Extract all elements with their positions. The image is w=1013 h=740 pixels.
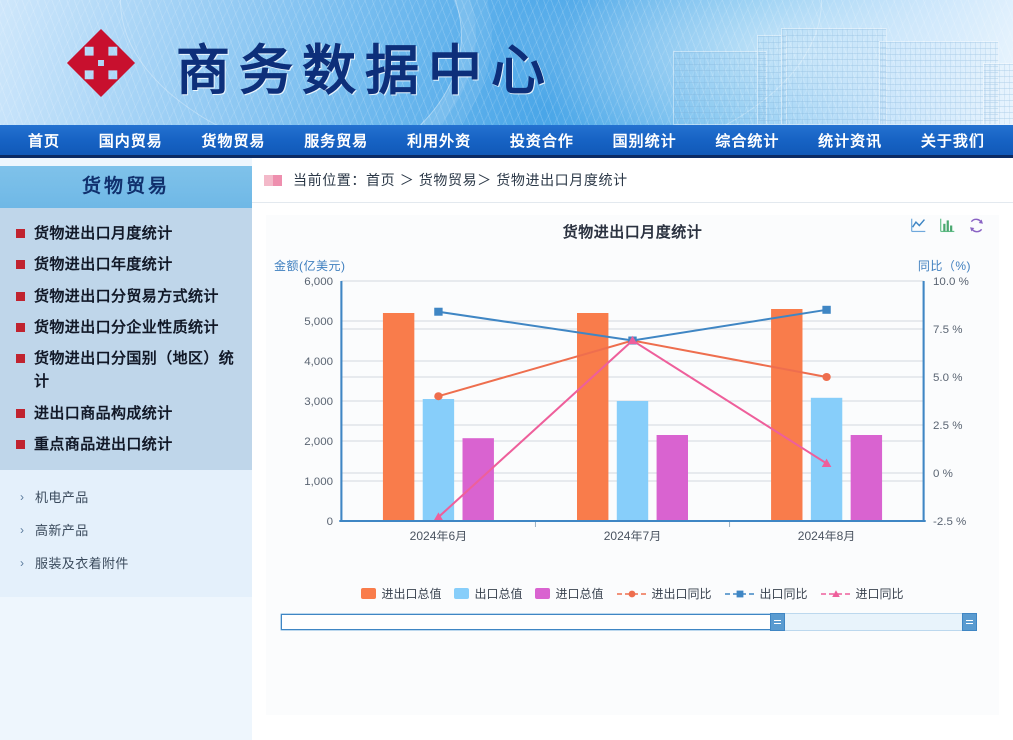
sidebar-title: 货物贸易 (0, 166, 252, 208)
breadcrumb-text: 当前位置：首页 ＞ 货物贸易＞ 货物进出口月度统计 (293, 170, 628, 190)
legend-label: 进出口总值 (381, 585, 441, 602)
bullet-icon (16, 229, 25, 238)
sidebar-item-label: 货物进出口分贸易方式统计 (34, 285, 219, 308)
chart-toolbar (910, 217, 985, 234)
nav-item-investment-coop[interactable]: 投资合作 (510, 130, 574, 151)
svg-text:10.0 %: 10.0 % (933, 276, 969, 288)
y2-axis-ticks: -2.5 %0 %2.5 %5.0 %7.5 %10.0 % (933, 276, 969, 528)
nav-item-news[interactable]: 统计资讯 (818, 130, 882, 151)
sidebar-menu: 货物进出口月度统计 货物进出口年度统计 货物进出口分贸易方式统计 货物进出口分企… (0, 208, 252, 470)
breadcrumb-marker-icon (264, 175, 282, 186)
nav-item-domestic[interactable]: 国内贸易 (99, 130, 163, 151)
legend-label: 出口总值 (474, 585, 522, 602)
legend-swatch (535, 588, 550, 599)
legend-item-import[interactable]: 进口总值 (535, 585, 603, 602)
legend-label: 进口总值 (555, 585, 603, 602)
commerce-swirl-logo (62, 26, 140, 100)
page-body: 货物贸易 货物进出口月度统计 货物进出口年度统计 货物进出口分贸易方式统计 货物… (0, 158, 1013, 740)
range-slider-track-fill (281, 614, 781, 630)
chart-plot: 01,0002,0003,0004,0005,0006,000 -2.5 %0 … (266, 273, 999, 563)
sidebar-submenu: › 机电产品 › 高新产品 › 服装及衣着附件 (0, 470, 252, 597)
y-axis-label: 金额(亿美元) (274, 257, 346, 274)
legend-item-total[interactable]: 进出口总值 (361, 585, 441, 602)
nav-item-comprehensive[interactable]: 综合统计 (715, 130, 779, 151)
chart-header: 货物进出口月度统计 (266, 215, 999, 249)
nav-item-home[interactable]: 首页 (28, 130, 60, 151)
legend-swatch (361, 588, 376, 599)
sidebar-item-key-commodities[interactable]: 重点商品进出口统计 (0, 429, 252, 460)
sidebar-item-enterprise-type[interactable]: 货物进出口分企业性质统计 (0, 312, 252, 343)
sidebar-item-trade-mode[interactable]: 货物进出口分贸易方式统计 (0, 281, 252, 312)
legend-item-export[interactable]: 出口总值 (454, 585, 522, 602)
svg-text:-2.5 %: -2.5 % (933, 516, 966, 528)
chart-panel: 货物进出口月度统计 金额(亿美元) 同比（%) 01,0002, (266, 215, 999, 715)
nav-item-country-stats[interactable]: 国别统计 (613, 130, 677, 151)
legend-line-triangle-icon (821, 589, 851, 599)
y-axis-ticks: 01,0002,0003,0004,0005,0006,000 (304, 276, 333, 528)
svg-text:2024年7月: 2024年7月 (604, 529, 662, 543)
legend-line-circle-icon (617, 589, 647, 599)
bullet-icon (16, 354, 25, 363)
svg-text:3,000: 3,000 (304, 396, 333, 408)
sidebar-subitem-label: 服装及衣着附件 (35, 553, 129, 572)
chart-legend: 进出口总值 出口总值 进口总值 进出口同比 (266, 585, 999, 602)
sidebar-item-by-country[interactable]: 货物进出口分国别（地区）统计 (0, 343, 252, 398)
chevron-right-icon: › (20, 490, 24, 504)
svg-text:2,000: 2,000 (304, 436, 333, 448)
main-navigation: 首页 国内贸易 货物贸易 服务贸易 利用外资 投资合作 国别统计 综合统计 统计… (0, 125, 1013, 158)
sidebar-item-monthly[interactable]: 货物进出口月度统计 (0, 218, 252, 249)
svg-text:5,000: 5,000 (304, 316, 333, 328)
site-header: 商务数据中心 (0, 0, 1013, 125)
legend-label: 进口同比 (856, 585, 904, 602)
nav-item-foreign-investment[interactable]: 利用外资 (407, 130, 471, 151)
range-slider-handle-left[interactable] (770, 613, 785, 631)
sidebar-item-annual[interactable]: 货物进出口年度统计 (0, 249, 252, 280)
svg-text:1,000: 1,000 (304, 476, 333, 488)
legend-line-square-icon (725, 589, 755, 599)
nav-item-services[interactable]: 服务贸易 (304, 130, 368, 151)
svg-text:7.5 %: 7.5 % (933, 324, 962, 336)
svg-text:4,000: 4,000 (304, 356, 333, 368)
sidebar-subitem-hightech[interactable]: › 高新产品 (0, 513, 252, 546)
bullet-icon (16, 260, 25, 269)
y2-axis-label: 同比（%) (918, 257, 971, 274)
svg-text:2.5 %: 2.5 % (933, 420, 962, 432)
svg-text:0 %: 0 % (933, 468, 953, 480)
sidebar-item-label: 重点商品进出口统计 (34, 433, 173, 456)
legend-swatch (454, 588, 469, 599)
x-axis-ticks: 2024年6月2024年7月2024年8月 (410, 521, 856, 543)
nav-item-about[interactable]: 关于我们 (921, 130, 985, 151)
sidebar-item-label: 货物进出口月度统计 (34, 222, 173, 245)
site-title: 商务数据中心 (176, 26, 554, 105)
bullet-icon (16, 323, 25, 332)
sidebar: 货物贸易 货物进出口月度统计 货物进出口年度统计 货物进出口分贸易方式统计 货物… (0, 158, 252, 740)
sidebar-item-label: 货物进出口年度统计 (34, 253, 173, 276)
range-slider[interactable] (280, 613, 977, 631)
legend-item-total-yoy[interactable]: 进出口同比 (617, 585, 712, 602)
svg-text:6,000: 6,000 (304, 276, 333, 288)
sidebar-subitem-label: 机电产品 (35, 487, 89, 506)
bullet-icon (16, 440, 25, 449)
chart-title: 货物进出口月度统计 (266, 221, 999, 242)
svg-text:0: 0 (327, 516, 333, 528)
content-area: 当前位置：首页 ＞ 货物贸易＞ 货物进出口月度统计 货物进出口月度统计 (252, 158, 1013, 740)
refresh-icon[interactable] (968, 217, 985, 234)
legend-item-import-yoy[interactable]: 进口同比 (821, 585, 904, 602)
legend-label: 进出口同比 (652, 585, 712, 602)
chevron-right-icon: › (20, 523, 24, 537)
sidebar-item-label: 货物进出口分企业性质统计 (34, 316, 219, 339)
svg-text:2024年6月: 2024年6月 (410, 529, 468, 543)
sidebar-item-commodity-composition[interactable]: 进出口商品构成统计 (0, 398, 252, 429)
header-building-illustration (653, 18, 1013, 125)
sidebar-subitem-apparel[interactable]: › 服装及衣着附件 (0, 546, 252, 579)
bullet-icon (16, 409, 25, 418)
breadcrumb: 当前位置：首页 ＞ 货物贸易＞ 货物进出口月度统计 (252, 158, 1013, 203)
sidebar-subitem-label: 高新产品 (35, 520, 89, 539)
line-chart-icon[interactable] (910, 217, 927, 234)
bullet-icon (16, 292, 25, 301)
svg-text:2024年8月: 2024年8月 (798, 529, 856, 543)
legend-label: 出口同比 (760, 585, 808, 602)
bar-chart-icon[interactable] (939, 217, 956, 234)
nav-item-goods[interactable]: 货物贸易 (202, 130, 266, 151)
svg-text:5.0 %: 5.0 % (933, 372, 962, 384)
legend-item-export-yoy[interactable]: 出口同比 (725, 585, 808, 602)
sidebar-subitem-mechanical[interactable]: › 机电产品 (0, 480, 252, 513)
chevron-right-icon: › (20, 556, 24, 570)
range-slider-handle-right[interactable] (962, 613, 977, 631)
sidebar-item-label: 进出口商品构成统计 (34, 402, 173, 425)
sidebar-item-label: 货物进出口分国别（地区）统计 (34, 347, 242, 394)
